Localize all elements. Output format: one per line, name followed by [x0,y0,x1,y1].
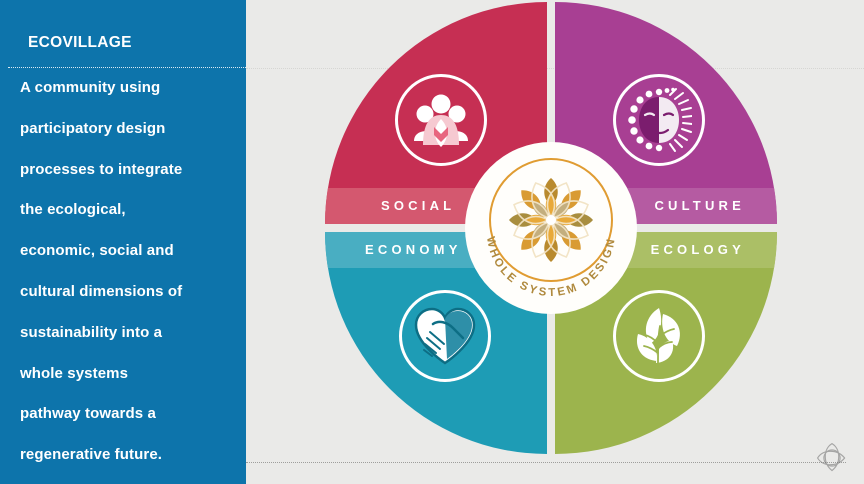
body-line: regenerative future. [20,435,246,476]
body-line: processes to integrate [20,150,246,191]
three-people-icon [410,89,472,151]
body-line: cultural dimensions of [20,272,246,313]
page-title: ECOVILLAGE [28,34,132,52]
body-line: sustainability into a [20,313,246,354]
body-line: participatory design [20,109,246,150]
center-hub-label: WHOLE SYSTEM DESIGN [484,236,618,299]
body-line: the ecological, [20,190,246,231]
body-line: economic, social and [20,231,246,272]
mask-face-icon [626,87,692,153]
guide-line-bottom [246,462,846,463]
leaves-icon [628,304,690,368]
body-line: whole systems [20,354,246,395]
slide-canvas: ECOVILLAGE A community using participato… [0,0,864,484]
interlocking-petals-logo-icon [814,440,850,476]
text-panel: ECOVILLAGE A community using participato… [0,0,246,484]
hub-arc-text: WHOLE SYSTEM DESIGN [471,148,631,308]
center-hub[interactable]: WHOLE SYSTEM DESIGN [471,148,631,308]
body-line: A community using [20,68,246,109]
panel-body-text: A community using participatory design p… [20,68,246,476]
whole-system-design-wheel: SOCIAL CULTURE ECONOMY ECOLOGY [325,2,777,454]
handshake-heart-icon [413,306,477,366]
body-line: pathway towards a [20,394,246,435]
